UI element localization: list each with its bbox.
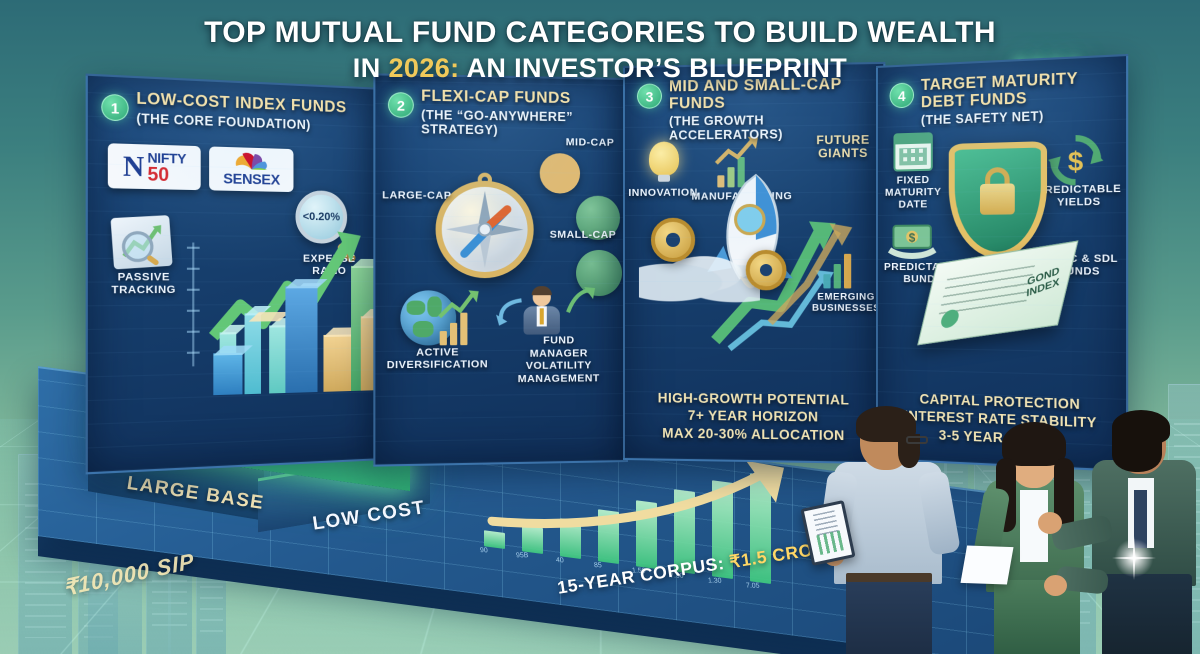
large-cap-caption: LARGE-CAP (380, 190, 455, 203)
cloud-puff (639, 250, 760, 305)
title-line-2: IN 2026: AN INVESTOR’S BLUEPRINT (0, 53, 1200, 84)
svg-text:$: $ (1068, 147, 1083, 177)
panel-2-title: FLEXI-CAP FUNDS (421, 88, 616, 108)
panel-3-number-badge: 3 (637, 83, 662, 108)
nifty50-logo: N NIFTY 50 (108, 143, 201, 190)
nifty-logo-number: 50 (147, 164, 169, 184)
index-fund-bar-chart (209, 238, 384, 395)
sparkle-decoration (1112, 536, 1156, 580)
sensex-logo-text: SENSEX (223, 170, 280, 188)
panel-1-body: N NIFTY 50 SENSEX (88, 138, 382, 472)
panel-flexi-cap-funds[interactable]: 2 FLEXI-CAP FUNDS (THE “GO-ANYWHERE” STR… (373, 73, 628, 466)
fixed-maturity-date-caption: FIXED MATURITY DATE (878, 174, 949, 211)
volatility-left-arrow-icon (495, 296, 526, 326)
passive-tracking-icon (110, 215, 172, 269)
panel-1-header: 1 LOW-COST INDEX FUNDS (THE CORE FOUNDAT… (99, 89, 372, 134)
panel-wall: 1 LOW-COST INDEX FUNDS (THE CORE FOUNDAT… (96, 88, 1122, 460)
gear-icon-small (746, 250, 787, 291)
panel-2-number-badge: 2 (388, 92, 414, 118)
passive-tracking-caption: PASSIVE TRACKING (103, 272, 183, 297)
mid-cap-bubble (540, 153, 580, 194)
panel-2-subtitle: (THE “GO-ANYWHERE” STRATEGY) (421, 108, 616, 139)
title-line-2-prefix: IN (353, 53, 389, 83)
bond-index-certificate: GOND INDEX (917, 240, 1078, 345)
fund-manager-volatility-caption: FUND MANAGER VOLATILITY MANAGEMENT (495, 334, 622, 386)
person-client-back (820, 414, 960, 654)
panel-3-header: 3 MID AND SMALL-CAP FUNDS (THE GROWTH AC… (635, 76, 873, 143)
shield-icon (949, 141, 1047, 258)
svg-text:$: $ (909, 231, 916, 245)
volatility-right-arrow-icon (566, 286, 596, 316)
sensex-logo: SENSEX (209, 146, 293, 192)
panel-2-header: 2 FLEXI-CAP FUNDS (THE “GO-ANYWHERE” STR… (386, 88, 616, 139)
nifty-logo-mark: N (123, 152, 144, 181)
active-diversification-caption: ACTIVE DIVERSIFICATION (375, 347, 499, 372)
report-paper (960, 545, 1013, 584)
title-block: TOP MUTUAL FUND CATEGORIES TO BUILD WEAL… (0, 16, 1200, 84)
mid-cap-caption: MID-CAP (554, 137, 626, 150)
gear-icon-large (651, 218, 695, 262)
emerging-businesses-caption: EMERGING BUSINESSES (805, 292, 885, 314)
panel-2-body: LARGE-CAP MID-CAP SMALL-CAP (375, 135, 626, 465)
panel-3-subtitle: (THE GROWTH ACCELERATORS) (669, 113, 873, 143)
calendar-icon (893, 132, 932, 171)
chart-axis (192, 243, 194, 367)
title-line-1: TOP MUTUAL FUND CATEGORIES TO BUILD WEAL… (0, 16, 1200, 49)
emerging-businesses-icon (823, 254, 851, 289)
panel-low-cost-index-funds[interactable]: 1 LOW-COST INDEX FUNDS (THE CORE FOUNDAT… (86, 74, 384, 475)
sensex-peacock-icon (230, 151, 273, 170)
panel-4-number-badge: 4 (890, 82, 914, 108)
money-hand-icon: $ (888, 219, 937, 260)
title-year: 2026: (389, 53, 460, 83)
infographic-canvas: 2026 90 95B 40 85 1.50 7.50 1.30 7.05 (0, 0, 1200, 654)
panel-1-number-badge: 1 (101, 94, 129, 122)
innovation-caption: INNOVATION (625, 188, 701, 200)
expense-ratio-value: <0.20% (303, 211, 340, 224)
small-cap-caption: SMALL-CAP (540, 230, 626, 242)
innovation-bulb-icon (649, 141, 679, 175)
person-advisor-man (1082, 406, 1200, 654)
diversification-arrow-icon (436, 286, 481, 321)
title-line-2-rest: AN INVESTOR’S BLUEPRINT (460, 53, 848, 83)
advisor-group (820, 408, 1200, 654)
panel-mid-small-cap-funds[interactable]: 3 MID AND SMALL-CAP FUNDS (THE GROWTH AC… (623, 62, 885, 464)
recycle-dollar-icon: $ (1047, 131, 1104, 189)
fund-manager-icon (519, 288, 563, 335)
